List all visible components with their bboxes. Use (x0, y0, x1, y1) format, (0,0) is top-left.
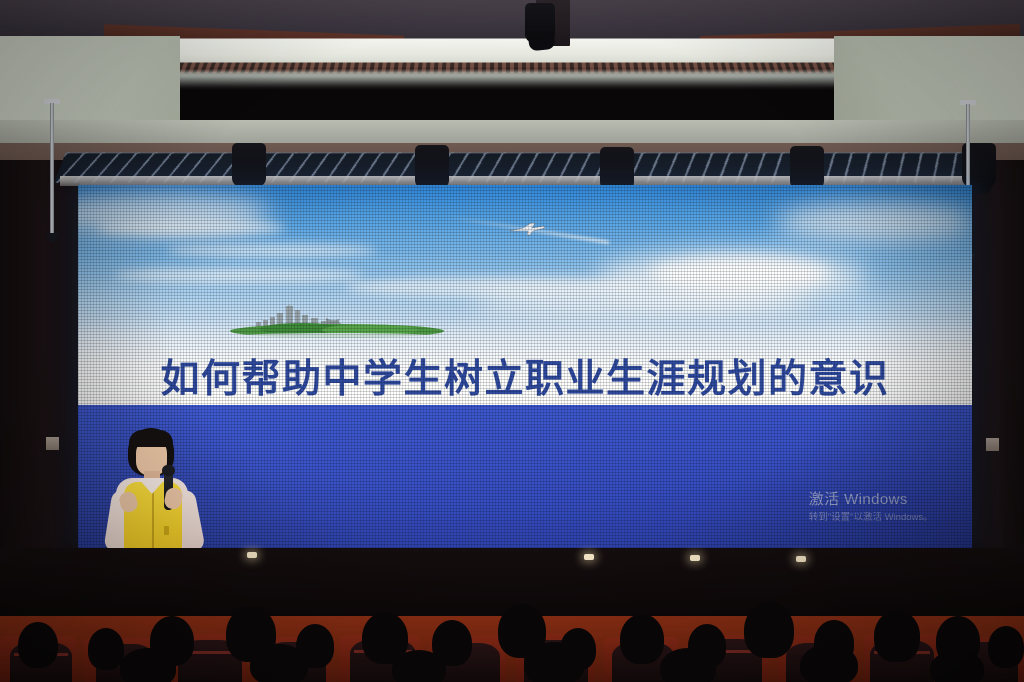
stage-light-icon-1 (232, 143, 266, 187)
wall-left (0, 160, 80, 600)
stage-light-icon-ceiling (525, 3, 555, 43)
cloud-3 (167, 244, 377, 257)
audience-head-front-2 (250, 644, 308, 682)
slide-title: 如何帮助中学生树立职业生涯规划的意识 (78, 348, 972, 404)
led-screen[interactable]: 如何帮助中学生树立职业生涯规划的意识 激活 Windows 转到"设置"以激活 … (78, 185, 972, 548)
wall-plate-1 (46, 437, 59, 450)
watermark-line-2: 转到"设置"以激活 Windows。 (809, 511, 933, 525)
presenter-badge (164, 526, 169, 535)
audience-head-10 (620, 614, 664, 664)
audience-head-front-6 (800, 644, 858, 682)
windows-activation-watermark: 激活 Windows 转到"设置"以激活 Windows。 (809, 489, 933, 525)
airplane-icon (507, 222, 547, 236)
audience-head-front-5 (660, 648, 716, 682)
auditorium-scene: 如何帮助中学生树立职业生涯规划的意识 激活 Windows 转到"设置"以激活 … (0, 0, 1024, 682)
stage-edge-light-2 (584, 554, 594, 560)
audience-head-12 (744, 602, 794, 658)
stage-edge-light-4 (796, 556, 806, 562)
audience-head-2 (88, 628, 124, 670)
audience-head-front-1 (120, 648, 176, 682)
wall-plate-3 (986, 438, 999, 451)
ceiling-cove-glow (128, 72, 902, 88)
cloud-9 (471, 286, 811, 316)
ceiling-soffit-left (0, 36, 180, 122)
stage-light-icon-2 (415, 145, 449, 189)
stage-light-icon-4 (790, 146, 824, 190)
watermark-line-1: 激活 Windows (809, 489, 933, 511)
ceiling-soffit-right (834, 36, 1024, 122)
audience-head-front-4 (524, 642, 584, 682)
audience-head-front-3 (392, 650, 446, 682)
wall-right (970, 160, 1024, 600)
audience-head-16 (988, 626, 1024, 668)
audience-head-front-7 (930, 650, 984, 682)
hanging-mic-pole-left (50, 103, 54, 235)
city-skyline-island-icon (230, 304, 445, 338)
cloud-8 (114, 268, 364, 283)
microphone-head-icon (162, 465, 175, 476)
stage-edge-light-1 (247, 552, 257, 558)
cloud-6 (775, 203, 972, 241)
stage-edge-light-3 (690, 555, 700, 561)
audience-head-14 (874, 610, 920, 662)
slide-blue-band (78, 405, 972, 548)
audience-head-1 (18, 622, 58, 668)
presenter-fringe (129, 430, 173, 447)
cloud-2 (96, 220, 286, 236)
